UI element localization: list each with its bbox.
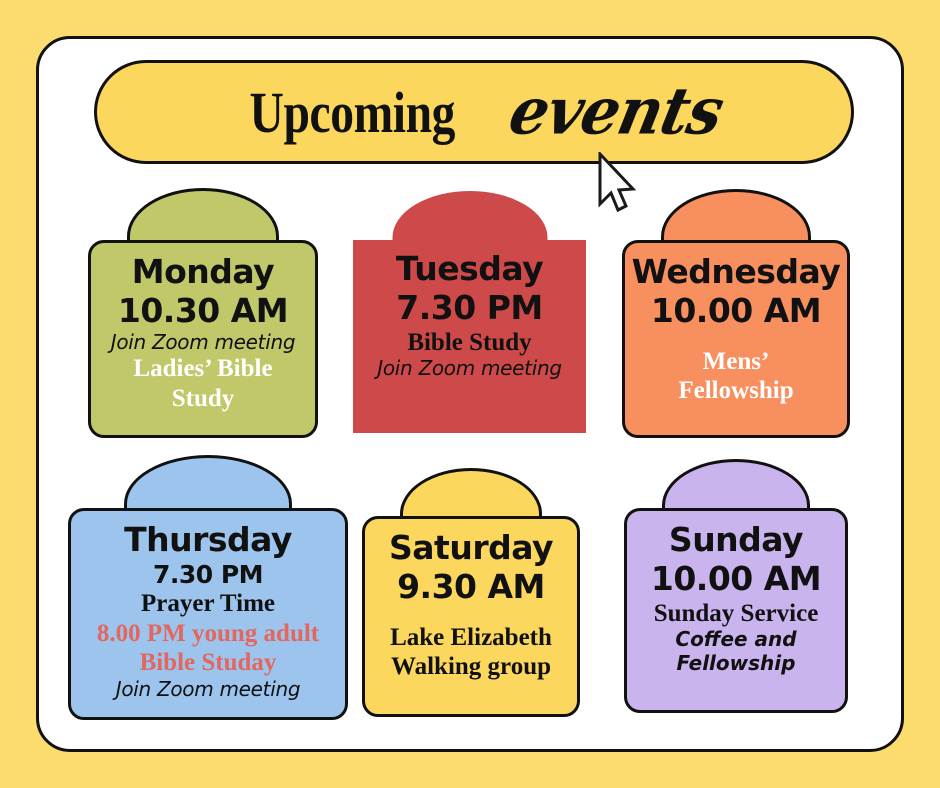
event-card-body: Tuesday7.30 PMBible StudyJoin Zoom meeti… xyxy=(353,240,586,433)
event-detail-line: Join Zoom meeting xyxy=(91,331,315,355)
event-day-label: Wednesday xyxy=(625,253,847,292)
event-detail-line: Bible Study xyxy=(353,328,586,358)
event-time-label: 9.30 AM xyxy=(365,568,577,607)
event-detail-line: Walking group xyxy=(365,652,577,682)
event-detail-line: Sunday Service xyxy=(627,599,845,629)
event-day-label: Monday xyxy=(91,253,315,292)
event-card-body: Monday10.30 AMJoin Zoom meetingLadies’ B… xyxy=(88,240,318,438)
event-day-label: Tuesday xyxy=(353,250,586,289)
event-detail-line: Mens’ xyxy=(625,347,847,377)
event-detail-line: Bible Studay xyxy=(71,648,345,678)
event-detail-line: 8.00 PM young adult xyxy=(71,619,345,649)
page-title-primary: Upcoming xyxy=(249,79,454,146)
event-detail-line: Coffee and xyxy=(627,628,845,652)
event-day-label: Thursday xyxy=(71,521,345,560)
event-day-label: Sunday xyxy=(627,521,845,560)
event-card-body: Wednesday10.00 AMMens’Fellowship xyxy=(622,240,850,438)
event-time-label: 7.30 PM xyxy=(71,560,345,590)
event-detail-line: Fellowship xyxy=(627,652,845,676)
event-detail-line: Join Zoom meeting xyxy=(71,678,345,702)
event-card-body: Thursday7.30 PMPrayer Time8.00 PM young … xyxy=(68,508,348,720)
event-time-label: 10.00 AM xyxy=(627,560,845,599)
event-detail-line: Study xyxy=(91,384,315,414)
event-time-label: 10.00 AM xyxy=(625,292,847,331)
event-detail-line: Lake Elizabeth xyxy=(365,623,577,653)
event-card-body: Saturday9.30 AMLake ElizabethWalking gro… xyxy=(362,516,580,717)
event-time-label: 10.30 AM xyxy=(91,292,315,331)
event-card-body: Sunday10.00 AMSunday ServiceCoffee andFe… xyxy=(624,508,848,713)
event-detail-line: Fellowship xyxy=(625,376,847,406)
event-day-label: Saturday xyxy=(365,529,577,568)
page-title-script: events xyxy=(503,74,729,150)
event-time-label: 7.30 PM xyxy=(353,289,586,328)
event-detail-line: Join Zoom meeting xyxy=(353,357,586,381)
header-banner: Upcoming events xyxy=(94,60,854,164)
event-detail-line: Prayer Time xyxy=(71,589,345,619)
event-detail-line: Ladies’ Bible xyxy=(91,354,315,384)
